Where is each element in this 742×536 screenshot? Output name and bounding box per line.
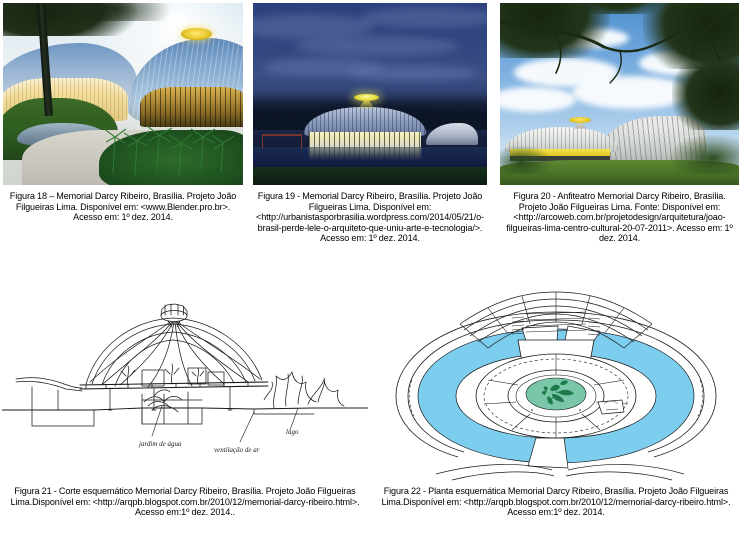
branch-overlay: [500, 3, 739, 185]
photo-day-scene: [500, 3, 739, 185]
cloud-shape: [347, 65, 478, 81]
annotation-jardim-de-agua: jardim de água: [138, 440, 182, 448]
facade-mullion-texture: [309, 132, 421, 147]
sketch-annotations: jardim de água ventilação de ar lago: [138, 428, 299, 454]
water-garden-scribble: [144, 390, 182, 412]
photo-night-scene: [253, 3, 487, 185]
figure-caption-figura-19: Figura 19 - Memorial Darcy Ribeiro, Bras…: [253, 191, 487, 244]
annotation-lago: lago: [286, 428, 299, 436]
figure-block-figura-22: Figura 22 - Planta esquemática Memorial …: [372, 284, 740, 518]
tent-roof-ribs: [90, 322, 260, 387]
photo-memorial-darcy-ribeiro-night: [253, 3, 487, 185]
section-sketch: jardim de água ventilação de ar lago: [2, 284, 368, 482]
drawing-planta-esquematica: [372, 284, 740, 482]
figure-caption-figura-22: Figura 22 - Planta esquemática Memorial …: [372, 486, 740, 518]
ground-line: [2, 408, 368, 426]
annotation-ventilacao-de-ar: ventilação de ar: [214, 446, 260, 454]
photo-anfiteatro-memorial-darcy-ribeiro: [500, 3, 739, 185]
foreground-lawn: [253, 167, 487, 185]
roof-eaves: [80, 382, 268, 389]
reflection-ripple-texture: [309, 147, 421, 162]
photo-dusk-scene: [3, 3, 243, 185]
figure-caption-figura-21: Figura 21 - Corte esquemático Memorial D…: [2, 486, 368, 518]
figure-block-figura-19: Figura 19 - Memorial Darcy Ribeiro, Bras…: [253, 3, 487, 244]
photo-memorial-darcy-ribeiro-dusk: [3, 3, 243, 185]
right-plant-cluster: [264, 372, 344, 408]
figure-block-figura-21: jardim de água ventilação de ar lago Fig…: [2, 284, 368, 518]
figure-caption-figura-20: Figura 20 - Anfiteatro Memorial Darcy Ri…: [500, 191, 739, 244]
figure-block-figura-20: Figura 20 - Anfiteatro Memorial Darcy Ri…: [500, 3, 739, 244]
left-canopy: [16, 378, 82, 410]
figure-page: Figura 18 – Memorial Darcy Ribeiro, Bras…: [0, 0, 742, 536]
red-pergola: [262, 134, 301, 149]
cloud-shape: [361, 7, 487, 29]
plan-drawing: [372, 284, 740, 482]
service-block: [598, 400, 624, 414]
cloud-shape: [295, 36, 459, 56]
palm-overlay: [3, 3, 243, 185]
figure-block-figura-18: Figura 18 – Memorial Darcy Ribeiro, Bras…: [3, 3, 243, 223]
drawing-corte-esquematico: jardim de água ventilação de ar lago: [2, 284, 368, 482]
figure-caption-figura-18: Figura 18 – Memorial Darcy Ribeiro, Bras…: [3, 191, 243, 223]
